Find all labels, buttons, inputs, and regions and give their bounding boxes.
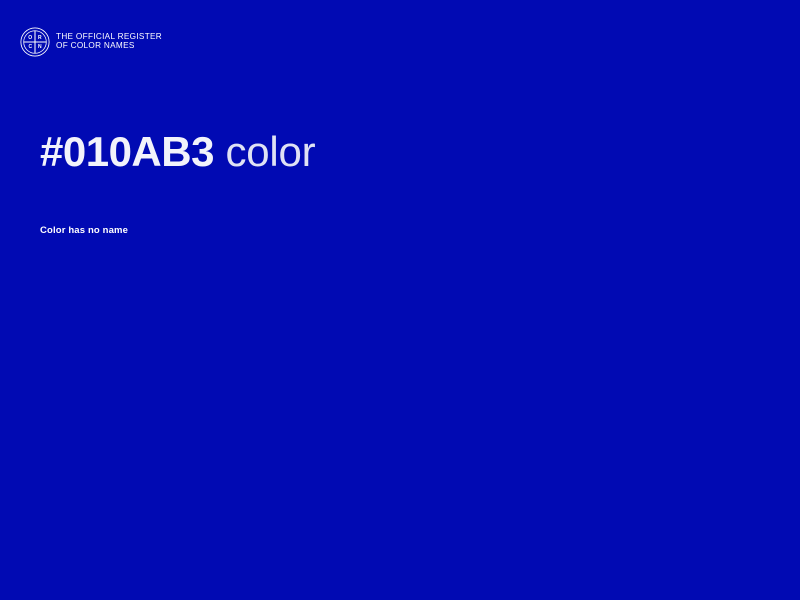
color-page: O R C N THE OFFICIAL REGISTER OF COLOR N… xyxy=(0,0,800,600)
svg-text:R: R xyxy=(38,35,42,41)
page-title: #010AB3 color xyxy=(40,130,740,174)
svg-text:C: C xyxy=(28,44,32,50)
color-name-status: Color has no name xyxy=(40,174,740,236)
brand-line-2: OF COLOR NAMES xyxy=(56,42,162,51)
svg-text:N: N xyxy=(38,44,42,50)
color-hex-code: #010AB3 xyxy=(40,128,214,175)
color-swatch-background xyxy=(0,0,800,600)
page-title-suffix: color xyxy=(214,128,316,175)
register-seal-icon: O R C N xyxy=(20,27,50,57)
svg-text:O: O xyxy=(28,35,32,41)
brand-lockup[interactable]: O R C N THE OFFICIAL REGISTER OF COLOR N… xyxy=(20,25,162,59)
brand-name: THE OFFICIAL REGISTER OF COLOR NAMES xyxy=(56,33,162,51)
color-info: #010AB3 color Color has no name xyxy=(40,130,740,236)
